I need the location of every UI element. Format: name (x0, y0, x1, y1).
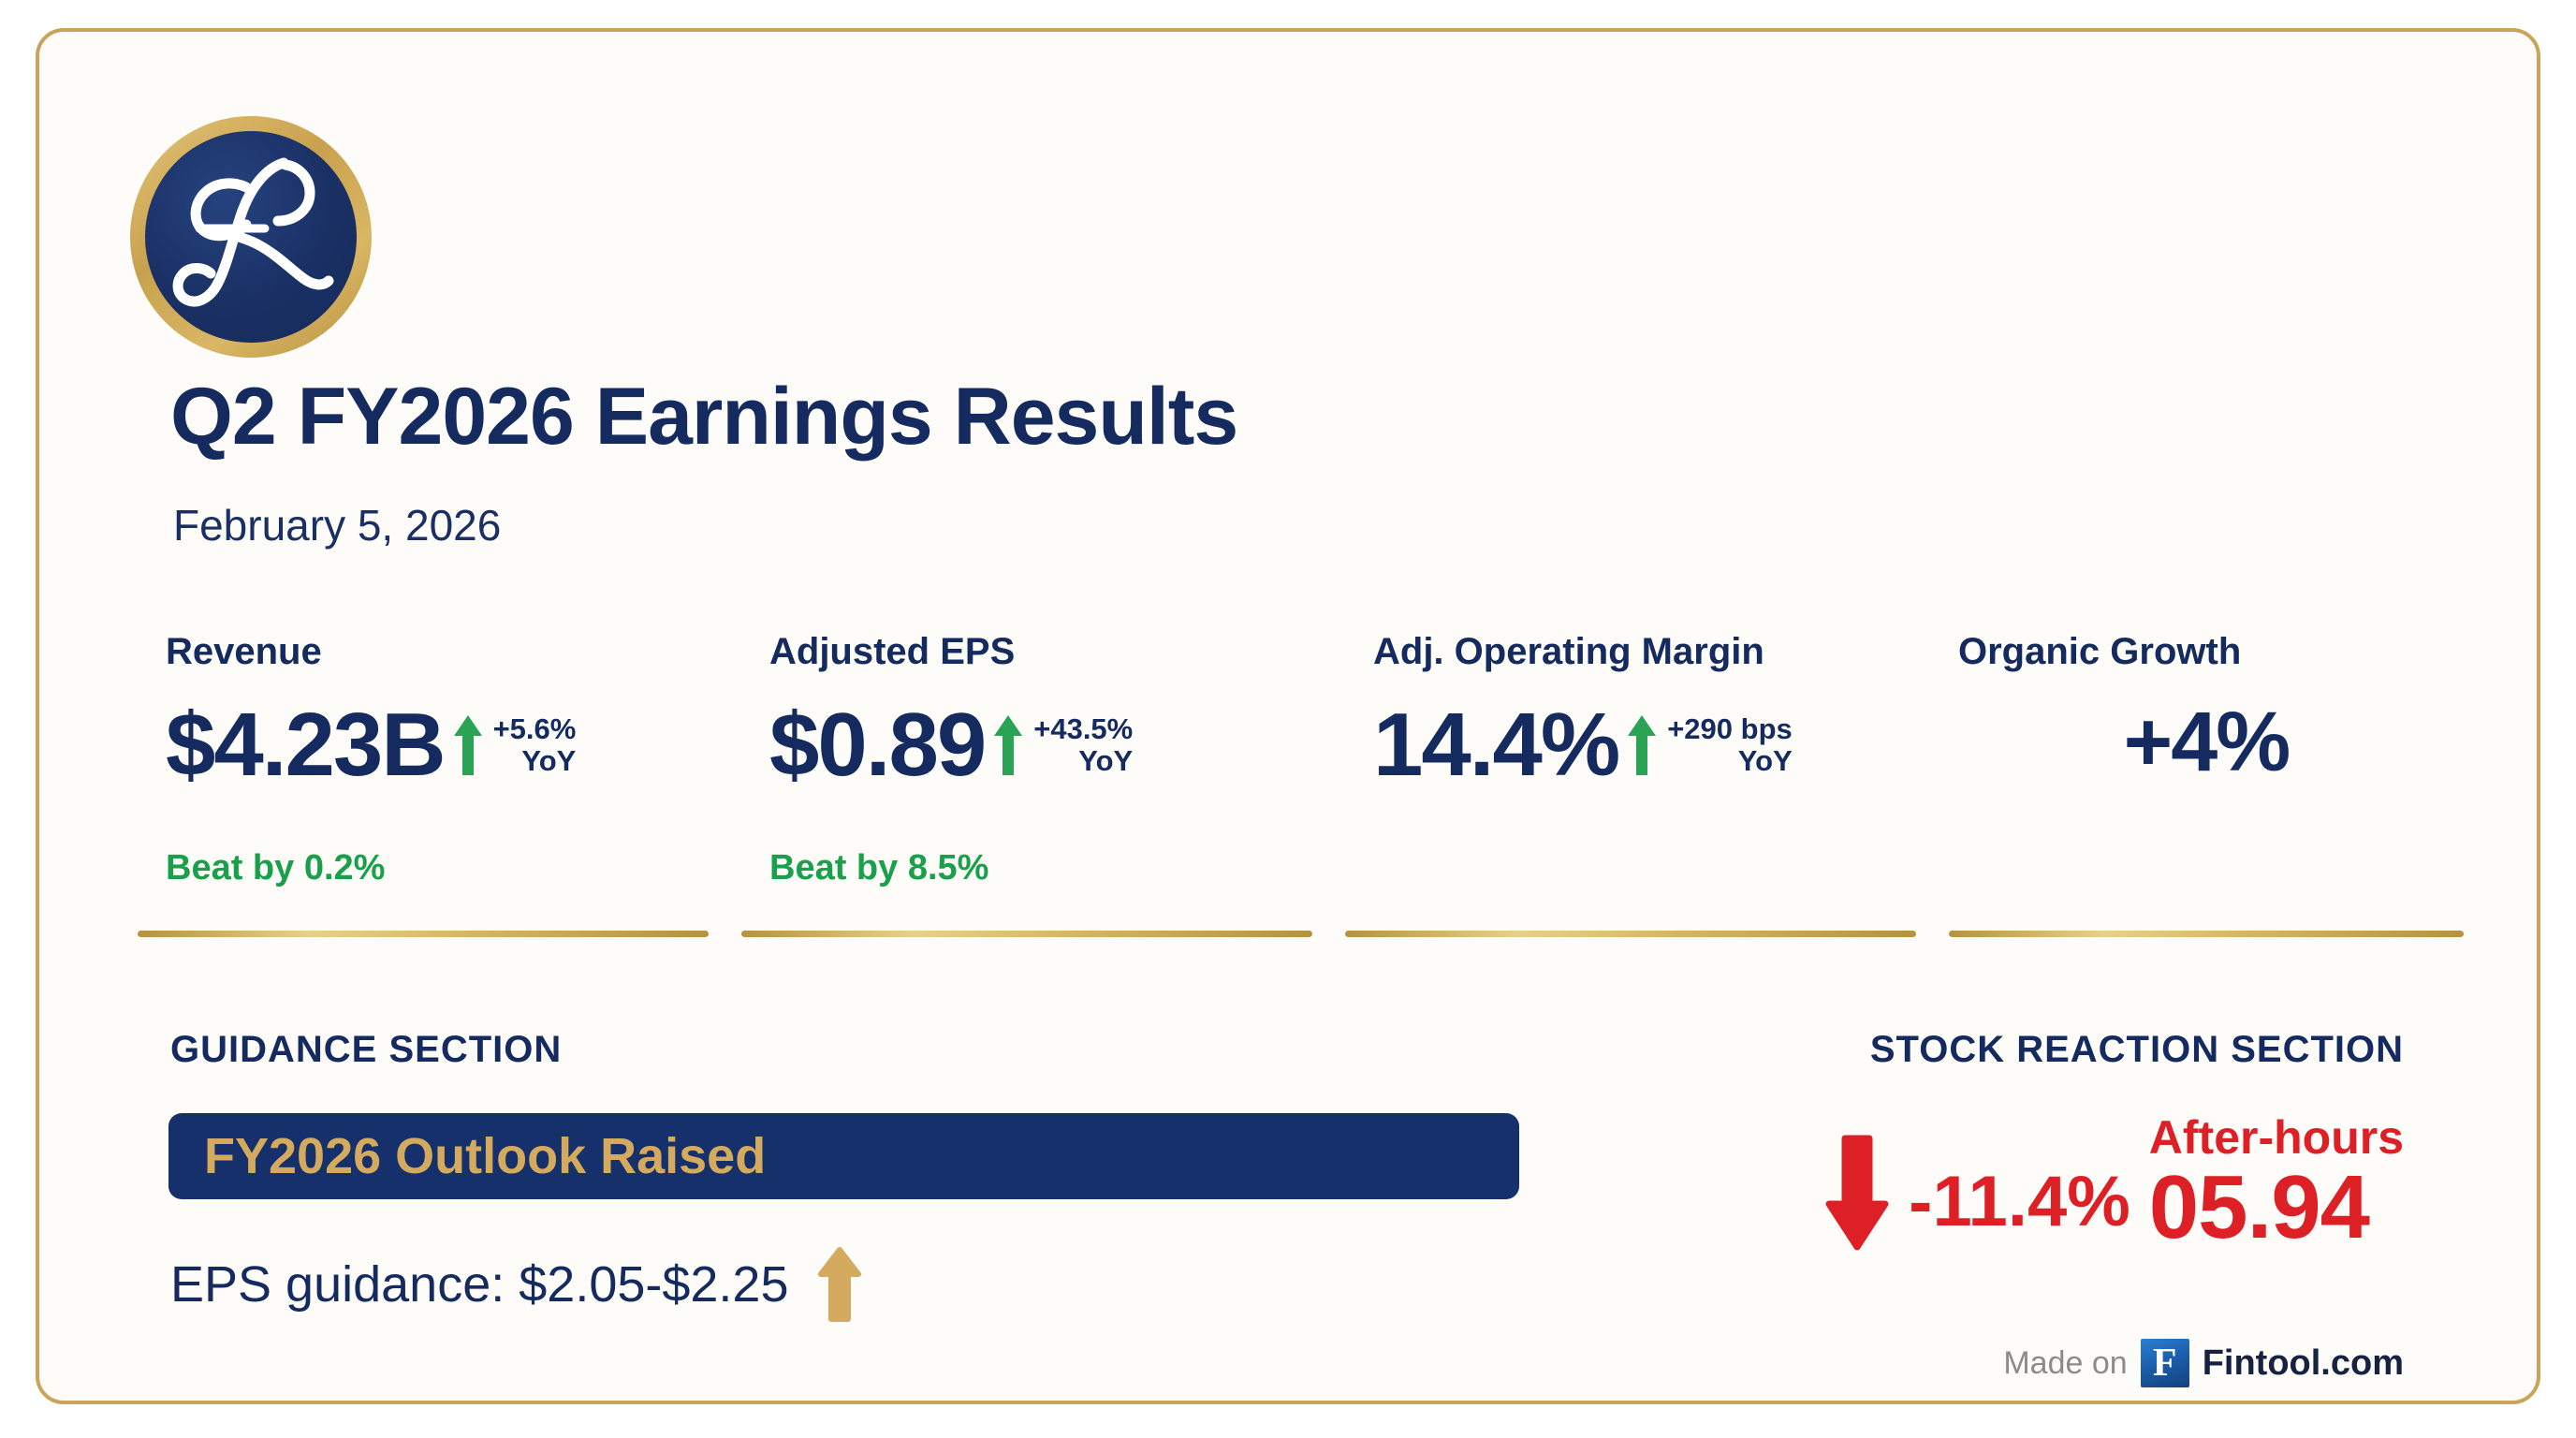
metric-delta-period: YoY (1667, 745, 1793, 777)
metric-delta-value: +5.6% (493, 712, 577, 745)
page-title: Q2 FY2026 Earnings Results (170, 371, 1237, 463)
eps-guidance-text: EPS guidance: $2.05-$2.25 (170, 1255, 789, 1313)
after-hours-price-block: After-hours 05.94 (2149, 1113, 2404, 1253)
metric-value: $0.89 (769, 698, 985, 793)
metric-delta: +43.5% YoY (1033, 713, 1133, 777)
metric-value-row: +4% (1949, 698, 2464, 787)
metric-organic-growth: Organic Growth +4% (1949, 631, 2464, 968)
metric-adj-operating-margin: Adj. Operating Margin 14.4% +290 bps YoY (1345, 631, 1949, 968)
guidance-section-heading: GUIDANCE SECTION (170, 1029, 562, 1071)
metric-delta-value: +290 bps (1667, 712, 1793, 745)
metric-delta: +5.6% YoY (493, 713, 577, 777)
after-hours-price: 05.94 (2149, 1163, 2404, 1253)
metric-delta-value: +43.5% (1033, 712, 1133, 745)
metric-value-row: $4.23B +5.6% YoY (166, 698, 576, 793)
metric-divider (1345, 931, 1916, 937)
metric-value: +4% (2124, 698, 2290, 787)
footer-attribution: Made on F Fintool.com (2003, 1339, 2404, 1387)
eli-lilly-script-monogram-icon (145, 131, 357, 343)
metric-value: $4.23B (166, 698, 445, 793)
fintool-logo-letter: F (2153, 1343, 2177, 1383)
metric-delta: +290 bps YoY (1667, 713, 1793, 777)
metric-beat: Beat by 0.2% (166, 848, 385, 888)
metrics-row: Revenue $4.23B +5.6% YoY Beat by 0.2% Ad… (138, 631, 2464, 968)
earnings-card: Q2 FY2026 Earnings Results February 5, 2… (36, 28, 2540, 1404)
metric-label: Organic Growth (1958, 631, 2241, 673)
arrow-up-icon (452, 712, 484, 779)
stock-reaction-row: -11.4% After-hours 05.94 (1824, 1113, 2404, 1253)
metric-value-row: $0.89 +43.5% YoY (769, 698, 1133, 793)
arrow-up-icon (817, 1244, 862, 1325)
stock-change-percent: -11.4% (1909, 1167, 2130, 1238)
guidance-status-badge: FY2026 Outlook Raised (168, 1113, 1519, 1199)
company-logo (130, 116, 372, 358)
metric-value: 14.4% (1373, 698, 1618, 793)
metric-adjusted-eps: Adjusted EPS $0.89 +43.5% YoY Beat by 8.… (741, 631, 1345, 968)
after-hours-label: After-hours (2149, 1113, 2404, 1163)
metric-beat: Beat by 8.5% (769, 848, 988, 888)
status-badge: FY2026 Outlook Raised (204, 1127, 766, 1185)
stock-reaction-section-heading: STOCK REACTION SECTION (1870, 1029, 2404, 1071)
metric-divider (741, 931, 1312, 937)
metric-revenue: Revenue $4.23B +5.6% YoY Beat by 0.2% (138, 631, 741, 968)
footer-made-on-label: Made on (2003, 1345, 2127, 1382)
fintool-f-logo-icon: F (2141, 1339, 2189, 1387)
metric-divider (1949, 931, 2464, 937)
arrow-up-icon (992, 712, 1024, 779)
metric-label: Adj. Operating Margin (1373, 631, 1764, 673)
arrow-down-icon (1824, 1131, 1890, 1253)
metric-label: Revenue (166, 631, 322, 673)
footer-brand-name[interactable]: Fintool.com (2203, 1343, 2404, 1384)
arrow-up-icon (1626, 712, 1658, 779)
metric-value-row: 14.4% +290 bps YoY (1373, 698, 1793, 793)
metric-divider (138, 931, 709, 937)
metric-label: Adjusted EPS (769, 631, 1015, 673)
metric-delta-period: YoY (1033, 745, 1133, 777)
guidance-detail-row: EPS guidance: $2.05-$2.25 (170, 1244, 862, 1325)
report-date: February 5, 2026 (173, 500, 501, 550)
metric-delta-period: YoY (493, 745, 577, 777)
